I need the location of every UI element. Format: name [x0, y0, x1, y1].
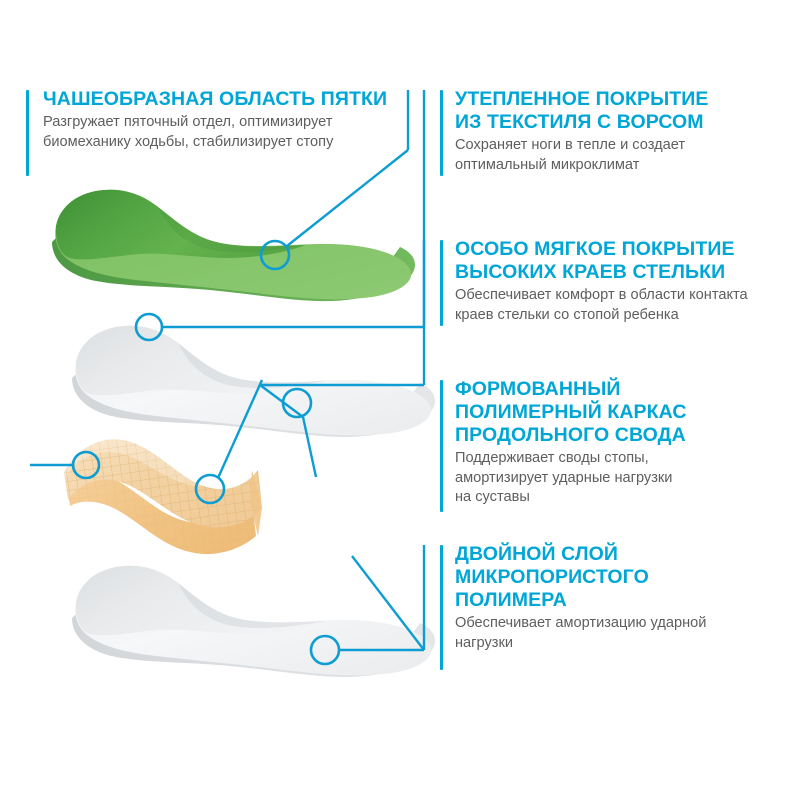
feature-block-arch-frame: ФОРМОВАННЫЙ ПОЛИМЕРНЫЙ КАРКАС ПРОДОЛЬНОГ…: [440, 378, 792, 508]
feature-title-textile: УТЕПЛЕННОЕ ПОКРЫТИЕ ИЗ ТЕКСТИЛЯ С ВОРСОМ: [455, 88, 785, 134]
callout-arch-frame-right[interactable]: [196, 475, 224, 503]
feature-title-soft-edges: ОСОБО МЯГКОЕ ПОКРЫТИЕ ВЫСОКИХ КРАЕВ СТЕЛ…: [455, 238, 792, 284]
feature-body-heel-cup: Разгружает пяточный отдел, оптимизирует …: [43, 113, 426, 152]
feature-block-textile: УТЕПЛЕННОЕ ПОКРЫТИЕ ИЗ ТЕКСТИЛЯ С ВОРСОМ…: [440, 88, 785, 175]
feature-title-arch-frame: ФОРМОВАННЫЙ ПОЛИМЕРНЫЙ КАРКАС ПРОДОЛЬНОГ…: [455, 378, 792, 447]
callout-double-layer[interactable]: [311, 636, 339, 664]
connector-soft-edge-stem: [303, 417, 316, 477]
feature-block-double-layer: ДВОЙНОЙ СЛОЙ МИКРОПОРИСТОГО ПОЛИМЕРА Обе…: [440, 543, 792, 653]
feature-body-double-layer: Обеспечивает амортизацию ударной нагрузк…: [455, 614, 792, 653]
feature-title-double-layer: ДВОЙНОЙ СЛОЙ МИКРОПОРИСТОГО ПОЛИМЕРА: [455, 543, 792, 612]
callout-heel-cup[interactable]: [261, 241, 289, 269]
feature-block-soft-edges: ОСОБО МЯГКОЕ ПОКРЫТИЕ ВЫСОКИХ КРАЕВ СТЕЛ…: [440, 238, 792, 325]
accent-bar-double-layer: [440, 545, 443, 670]
connector-double-layer-diag: [352, 556, 424, 650]
callout-soft-edge[interactable]: [283, 389, 311, 417]
accent-bar-arch-frame: [440, 380, 443, 512]
connector-heel-cup: [287, 150, 408, 246]
connector-arch-right-diag: [218, 380, 262, 478]
feature-body-textile: Сохраняет ноги в тепле и создает оптимал…: [455, 136, 785, 175]
insole-features-infographic: ЧАШЕОБРАЗНАЯ ОБЛАСТЬ ПЯТКИ Разгружает пя…: [0, 0, 800, 800]
accent-bar-soft-edges: [440, 240, 443, 326]
feature-title-heel-cup: ЧАШЕОБРАЗНАЯ ОБЛАСТЬ ПЯТКИ: [43, 88, 426, 111]
accent-bar-textile: [440, 90, 443, 176]
callout-textile-cover[interactable]: [136, 314, 162, 340]
callout-arch-frame-left[interactable]: [73, 452, 99, 478]
feature-body-arch-frame: Поддерживает своды стопы, амортизирует у…: [455, 449, 792, 508]
feature-block-heel-cup: ЧАШЕОБРАЗНАЯ ОБЛАСТЬ ПЯТКИ Разгружает пя…: [26, 88, 426, 152]
feature-body-soft-edges: Обеспечивает комфорт в области контакта …: [455, 286, 792, 325]
accent-bar-heel: [26, 90, 29, 176]
